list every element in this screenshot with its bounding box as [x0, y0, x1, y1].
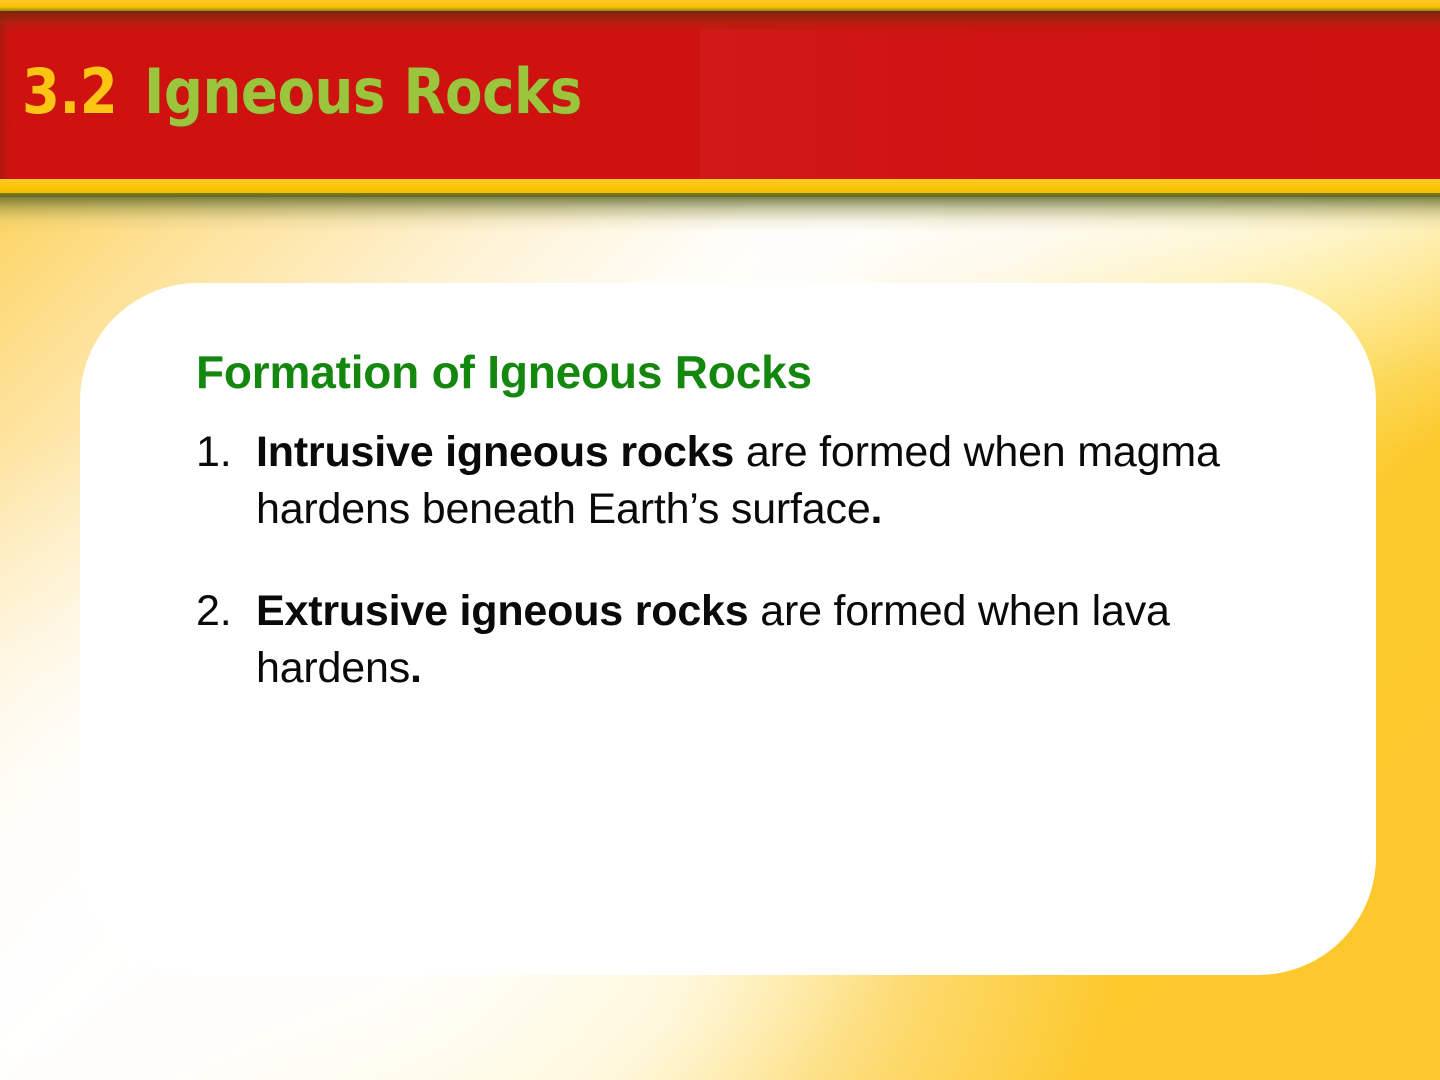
list-item-number: 1. [196, 424, 248, 482]
banner-left-edge-shadow [0, 11, 14, 179]
slide-banner: 3.2 Igneous Rocks [0, 0, 1440, 232]
list-item-term: Intrusive igneous rocks [256, 428, 734, 476]
list-item-period: . [410, 644, 422, 692]
content-heading: Formation of Igneous Rocks [196, 347, 1306, 398]
banner-bottom-gold-rule [0, 179, 1440, 193]
list-item-number: 2. [196, 583, 248, 641]
list-item-term: Extrusive igneous rocks [256, 587, 748, 635]
content-card-body: Formation of Igneous Rocks 1. Intrusive … [196, 347, 1306, 698]
banner-drop-shadow [0, 197, 1440, 232]
formation-list: 1. Intrusive igneous rocks are formed wh… [196, 424, 1306, 698]
section-title: Igneous Rocks [144, 61, 582, 123]
section-number: 3.2 [22, 61, 117, 123]
list-item: 2. Extrusive igneous rocks are formed wh… [196, 583, 1306, 698]
slide-title: 3.2 Igneous Rocks [22, 44, 642, 140]
list-item-period: . [871, 485, 883, 533]
content-card: Formation of Igneous Rocks 1. Intrusive … [80, 283, 1376, 975]
list-item: 1. Intrusive igneous rocks are formed wh… [196, 424, 1306, 539]
banner-top-gold-rule [0, 0, 1440, 11]
slide: 3.2 Igneous Rocks Formation of Igneous R… [0, 0, 1440, 1080]
